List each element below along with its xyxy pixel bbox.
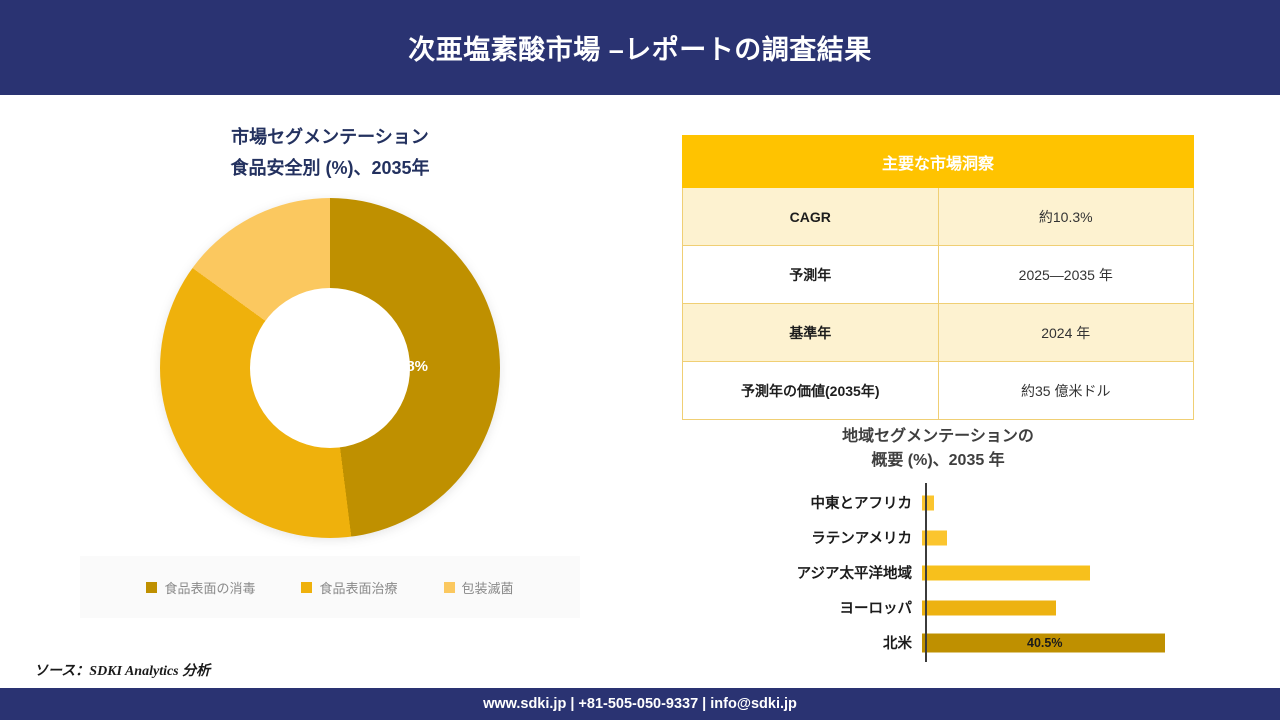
donut-title-line-2: 食品安全別 (%)、2035年: [40, 153, 620, 184]
legend-item[interactable]: 包装滅菌: [444, 578, 514, 597]
bar-title-line-2: 概要 (%)、2035 年: [682, 449, 1194, 473]
page-title: 次亜塩素酸市場 –レポートの調査結果: [408, 28, 872, 67]
page-header: 次亜塩素酸市場 –レポートの調査結果: [0, 0, 1280, 95]
donut-title-line-1: 市場セグメンテーション: [40, 122, 620, 153]
legend-item-label: 包装滅菌: [462, 578, 514, 597]
bar-data-label: 40.5%: [1027, 636, 1062, 650]
table-cell-key: 予測年の価値(2035年): [683, 362, 939, 420]
bar-track: [922, 485, 1194, 520]
key-insights-panel: 主要な市場洞察 CAGR 約10.3% 予測年 2025—2035 年 基準年 …: [682, 135, 1194, 420]
slide: 次亜塩素酸市場 –レポートの調査結果 市場セグメンテーション 食品安全別 (%)…: [0, 0, 1280, 720]
donut-chart-panel: 市場セグメンテーション 食品安全別 (%)、2035年 48% 食品表面の消毒 …: [40, 110, 620, 640]
bar-track: [922, 590, 1194, 625]
bar-category-label: ヨーロッパ: [682, 597, 922, 618]
donut-chart-title: 市場セグメンテーション 食品安全別 (%)、2035年: [40, 122, 620, 184]
table-row: 予測年の価値(2035年) 約35 億米ドル: [683, 362, 1194, 420]
bar-row: 北米40.5%: [682, 625, 1194, 660]
legend-swatch-icon: [444, 582, 455, 593]
bar-chart-plot: 中東とアフリカラテンアメリカアジア太平洋地域ヨーロッパ北米40.5%: [682, 485, 1194, 660]
bar-track: [922, 555, 1194, 590]
bar-track: [922, 520, 1194, 555]
legend-item[interactable]: 食品表面治療: [301, 578, 397, 597]
bar-category-label: ラテンアメリカ: [682, 527, 922, 548]
bar-title-line-1: 地域セグメンテーションの: [682, 425, 1194, 449]
table-cell-key: 基準年: [683, 304, 939, 362]
bar-row: ヨーロッパ: [682, 590, 1194, 625]
bar-row: 中東とアフリカ: [682, 485, 1194, 520]
table-cell-key: 予測年: [683, 246, 939, 304]
donut-center-hole: [250, 288, 410, 448]
table-cell-value: 2024 年: [938, 304, 1194, 362]
page-footer: www.sdki.jp | +81-505-050-9337 | info@sd…: [0, 688, 1280, 720]
table-row: CAGR 約10.3%: [683, 188, 1194, 246]
bar-rows: 中東とアフリカラテンアメリカアジア太平洋地域ヨーロッパ北米40.5%: [682, 485, 1194, 660]
regional-bar-chart-panel: 地域セグメンテーションの 概要 (%)、2035 年 中東とアフリカラテンアメリ…: [682, 425, 1194, 675]
bar-category-label: 北米: [682, 632, 922, 653]
bar-category-label: アジア太平洋地域: [682, 562, 922, 583]
donut-chart: 48%: [160, 198, 500, 538]
bar-fill[interactable]: [922, 495, 934, 510]
table-cell-key: CAGR: [683, 188, 939, 246]
legend-swatch-icon: [146, 582, 157, 593]
bar-row: アジア太平洋地域: [682, 555, 1194, 590]
source-note: ソース：SDKI Analytics 分析: [34, 660, 210, 680]
donut-slice-label-primary: 48%: [398, 358, 428, 375]
donut-legend: 食品表面の消毒 食品表面治療 包装滅菌: [80, 556, 580, 618]
key-insights-table: 主要な市場洞察 CAGR 約10.3% 予測年 2025—2035 年 基準年 …: [682, 135, 1194, 420]
legend-item[interactable]: 食品表面の消毒: [146, 578, 255, 597]
bar-chart-axis-line: [925, 483, 927, 662]
bar-chart-title: 地域セグメンテーションの 概要 (%)、2035 年: [682, 425, 1194, 473]
legend-swatch-icon: [301, 582, 312, 593]
table-cell-value: 約35 億米ドル: [938, 362, 1194, 420]
table-cell-value: 2025—2035 年: [938, 246, 1194, 304]
table-row: 予測年 2025—2035 年: [683, 246, 1194, 304]
table-header-cell: 主要な市場洞察: [683, 136, 1194, 188]
bar-fill[interactable]: [922, 600, 1056, 615]
bar-row: ラテンアメリカ: [682, 520, 1194, 555]
table-cell-value: 約10.3%: [938, 188, 1194, 246]
bar-fill[interactable]: [922, 565, 1090, 580]
footer-contact-text: www.sdki.jp | +81-505-050-9337 | info@sd…: [483, 696, 797, 712]
legend-item-label: 食品表面治療: [319, 578, 397, 597]
bar-track: 40.5%: [922, 625, 1194, 660]
legend-item-label: 食品表面の消毒: [164, 578, 255, 597]
table-row: 基準年 2024 年: [683, 304, 1194, 362]
bar-category-label: 中東とアフリカ: [682, 492, 922, 513]
